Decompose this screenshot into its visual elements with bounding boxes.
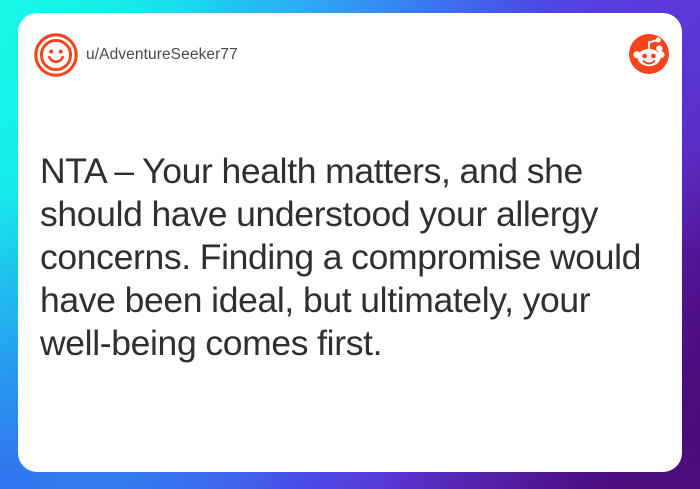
comment-text: NTA – Your health matters, and she shoul… — [40, 150, 660, 365]
comment-card: u/AdventureSeeker77 — [18, 13, 682, 472]
card-header: u/AdventureSeeker77 — [18, 13, 682, 103]
smiley-face-avatar-icon — [34, 33, 78, 77]
gradient-background: u/AdventureSeeker77 — [0, 0, 700, 489]
reddit-snoo-icon — [628, 33, 670, 75]
username-label: u/AdventureSeeker77 — [86, 33, 238, 77]
